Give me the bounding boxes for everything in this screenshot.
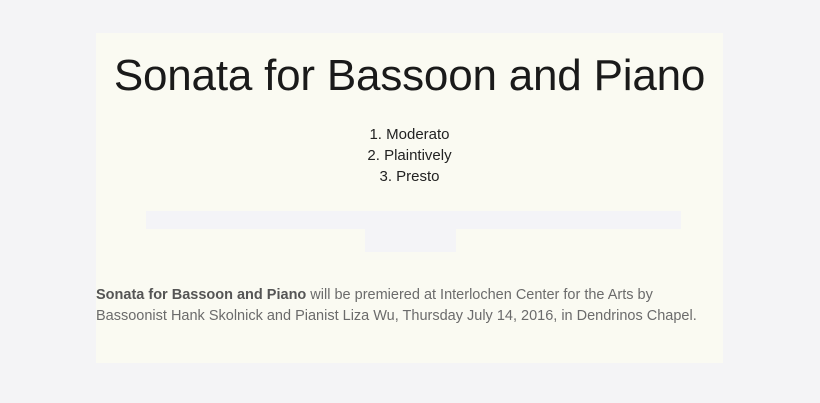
page-title: Sonata for Bassoon and Piano xyxy=(96,33,723,102)
list-item: 3. Presto xyxy=(96,166,723,187)
embed-placeholder-bar-wide xyxy=(146,211,681,229)
list-item: 2. Plaintively xyxy=(96,145,723,166)
page-root: Sonata for Bassoon and Piano 1. Moderato… xyxy=(0,0,820,403)
media-embed-placeholder[interactable] xyxy=(96,202,723,272)
movement-list: 1. Moderato 2. Plaintively 3. Presto xyxy=(96,124,723,187)
embed-placeholder-bar-small xyxy=(365,229,456,252)
list-item: 1. Moderato xyxy=(96,124,723,145)
premiere-note-work-title: Sonata for Bassoon and Piano xyxy=(96,287,306,303)
premiere-note: Sonata for Bassoon and Piano will be pre… xyxy=(96,280,723,327)
